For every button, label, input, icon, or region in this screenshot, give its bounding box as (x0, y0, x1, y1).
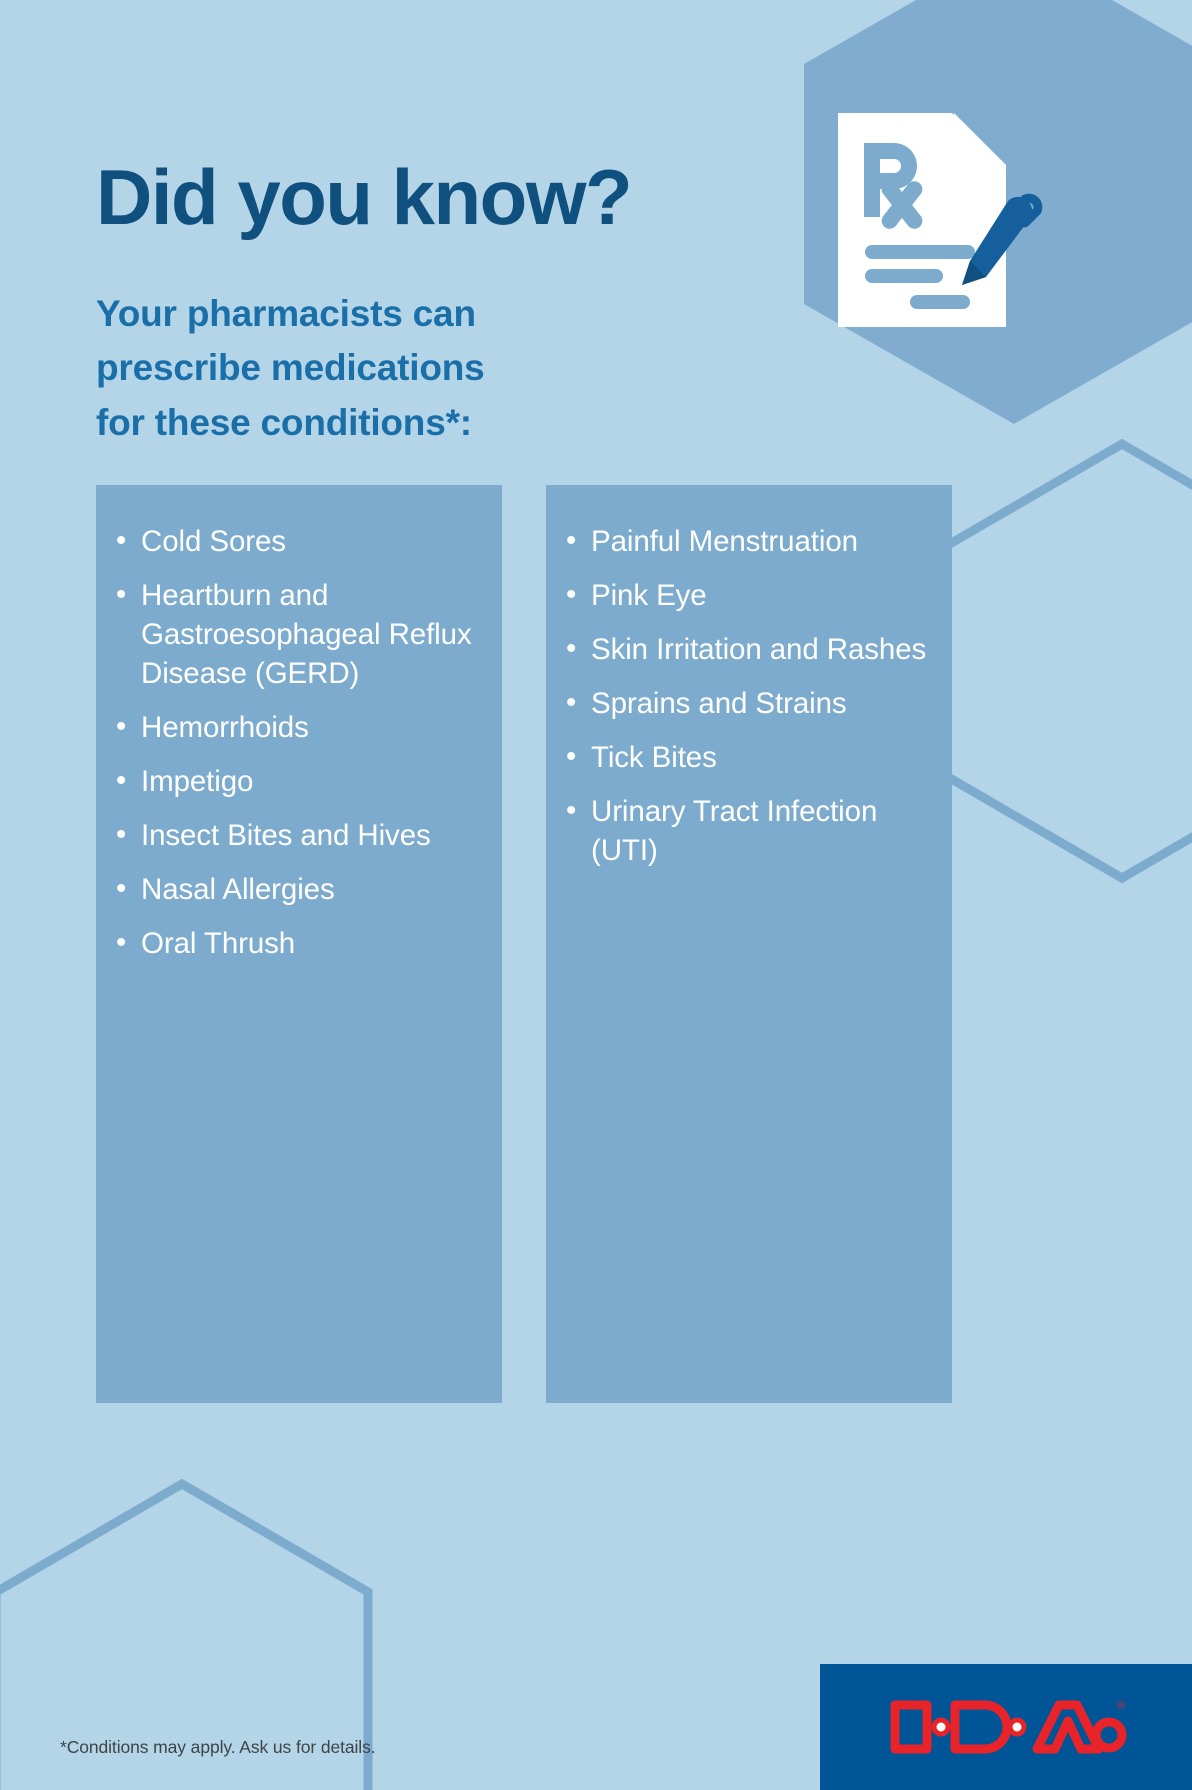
list-item: Cold Sores (114, 523, 484, 562)
list-item: Insect Bites and Hives (114, 817, 484, 856)
list-item: Oral Thrush (114, 925, 484, 964)
list-item: Sprains and Strains (564, 685, 934, 724)
subheading-line-2: prescribe medications (96, 341, 485, 395)
list-item: Pink Eye (564, 577, 934, 616)
list-item: Skin Irritation and Rashes (564, 631, 934, 670)
conditions-list-left: Cold Sores Heartburn and Gastroesophagea… (96, 485, 502, 963)
hexagon-outline-decoration-right (932, 430, 1192, 910)
page-title: Did you know? (96, 158, 631, 236)
disclaimer-text: *Conditions may apply. Ask us for detail… (60, 1737, 376, 1758)
list-item: Hemorrhoids (114, 709, 484, 748)
list-item: Heartburn and Gastroesophageal Reflux Di… (114, 577, 484, 694)
list-item: Urinary Tract Infection (UTI) (564, 793, 934, 871)
list-item: Tick Bites (564, 739, 934, 778)
subheading: Your pharmacists can prescribe medicatio… (96, 287, 485, 450)
ida-logo-block: ® (820, 1664, 1192, 1790)
list-item: Impetigo (114, 763, 484, 802)
poster-canvas: Did you know? Your pharmacists can presc… (0, 0, 1192, 1790)
list-item: Painful Menstruation (564, 523, 934, 562)
list-item: Nasal Allergies (114, 871, 484, 910)
prescription-document-icon (820, 105, 1050, 335)
conditions-panel-left: Cold Sores Heartburn and Gastroesophagea… (96, 485, 502, 1403)
subheading-line-3: for these conditions*: (96, 396, 485, 450)
ida-logo: ® (881, 1687, 1131, 1767)
conditions-list-right: Painful Menstruation Pink Eye Skin Irrit… (546, 485, 952, 871)
registered-mark-icon: ® (1117, 1700, 1125, 1712)
subheading-line-1: Your pharmacists can (96, 287, 485, 341)
conditions-panel-right: Painful Menstruation Pink Eye Skin Irrit… (546, 485, 952, 1403)
